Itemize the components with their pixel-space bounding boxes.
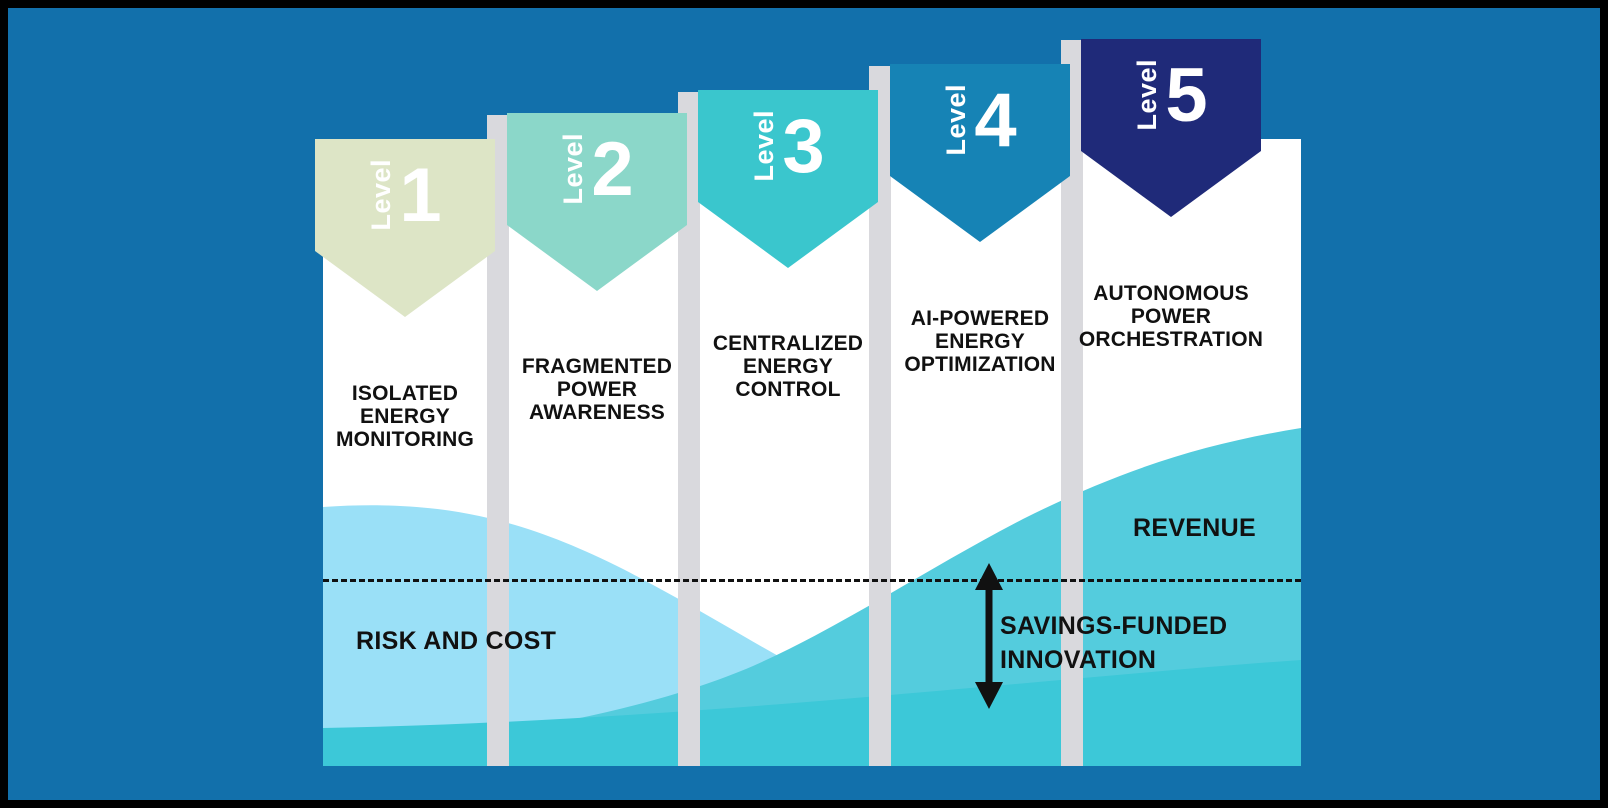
chevron-point-2: [507, 225, 687, 291]
revenue-label: REVENUE: [1133, 514, 1256, 543]
chevron-body-4: Level 4: [890, 64, 1070, 176]
slide-background: Level 1 ISOLATED ENERGY MONITORING Level…: [8, 8, 1600, 800]
level-badge-2: Level 2: [507, 113, 687, 225]
caption-line: CONTROL: [693, 378, 883, 401]
level-word-5: Level: [1134, 59, 1161, 131]
level-word-2: Level: [560, 133, 587, 205]
screenshot-canvas: Level 1 ISOLATED ENERGY MONITORING Level…: [0, 0, 1608, 808]
level-caption-2: FRAGMENTED POWER AWARENESS: [502, 355, 692, 424]
caption-line: AWARENESS: [502, 401, 692, 424]
chevron-body-2: Level 2: [507, 113, 687, 225]
caption-line: AUTONOMOUS: [1076, 282, 1266, 305]
caption-line: CENTRALIZED: [693, 332, 883, 355]
savings-line-2: INNOVATION: [1000, 643, 1227, 677]
level-badge-5: Level 5: [1081, 39, 1261, 151]
level-card-2[interactable]: Level 2 FRAGMENTED POWER AWARENESS: [507, 113, 687, 225]
caption-line: MONITORING: [310, 428, 500, 451]
risk-and-cost-label: RISK AND COST: [356, 627, 556, 656]
level-number-2: 2: [591, 132, 633, 208]
level-word-3: Level: [751, 110, 778, 182]
caption-line: ENERGY: [885, 330, 1075, 353]
caption-line: POWER: [502, 378, 692, 401]
level-caption-4: AI-POWERED ENERGY OPTIMIZATION: [885, 307, 1075, 376]
chevron-body-5: Level 5: [1081, 39, 1261, 151]
caption-line: ORCHESTRATION: [1076, 328, 1266, 351]
savings-funded-innovation-label: SAVINGS-FUNDED INNOVATION: [1000, 609, 1227, 677]
level-number-3: 3: [782, 109, 824, 185]
level-chevron-5: Level 5: [1081, 39, 1261, 151]
caption-line: POWER: [1076, 305, 1266, 328]
level-badge-4: Level 4: [890, 64, 1070, 176]
level-badge-1: Level 1: [315, 139, 495, 251]
chevron-point-4: [890, 176, 1070, 242]
baseline-dashed-divider: [323, 579, 1301, 582]
chevron-point-1: [315, 251, 495, 317]
caption-line: ISOLATED: [310, 382, 500, 405]
level-chevron-2: Level 2: [507, 113, 687, 225]
level-caption-1: ISOLATED ENERGY MONITORING: [310, 382, 500, 451]
caption-line: OPTIMIZATION: [885, 353, 1075, 376]
level-number-4: 4: [974, 83, 1016, 159]
level-caption-5: AUTONOMOUS POWER ORCHESTRATION: [1076, 282, 1266, 351]
double-arrow-icon: [968, 563, 1010, 709]
savings-line-1: SAVINGS-FUNDED: [1000, 609, 1227, 643]
caption-line: FRAGMENTED: [502, 355, 692, 378]
chevron-body-1: Level 1: [315, 139, 495, 251]
level-chevron-1: Level 1: [315, 139, 495, 251]
level-chevron-3: Level 3: [698, 90, 878, 202]
level-number-1: 1: [399, 158, 441, 234]
chevron-point-5: [1081, 151, 1261, 217]
caption-line: AI-POWERED: [885, 307, 1075, 330]
level-number-5: 5: [1165, 58, 1207, 134]
chevron-body-3: Level 3: [698, 90, 878, 202]
level-word-1: Level: [368, 159, 395, 231]
level-chevron-4: Level 4: [890, 64, 1070, 176]
chevron-point-3: [698, 202, 878, 268]
level-card-4[interactable]: Level 4 AI-POWERED ENERGY OPTIMIZATION: [890, 64, 1070, 176]
level-card-1[interactable]: Level 1 ISOLATED ENERGY MONITORING: [315, 139, 495, 251]
level-caption-3: CENTRALIZED ENERGY CONTROL: [693, 332, 883, 401]
level-badge-3: Level 3: [698, 90, 878, 202]
level-card-3[interactable]: Level 3 CENTRALIZED ENERGY CONTROL: [698, 90, 878, 202]
caption-line: ENERGY: [310, 405, 500, 428]
caption-line: ENERGY: [693, 355, 883, 378]
level-card-5[interactable]: Level 5 AUTONOMOUS POWER ORCHESTRATION: [1081, 39, 1261, 151]
level-word-4: Level: [943, 84, 970, 156]
